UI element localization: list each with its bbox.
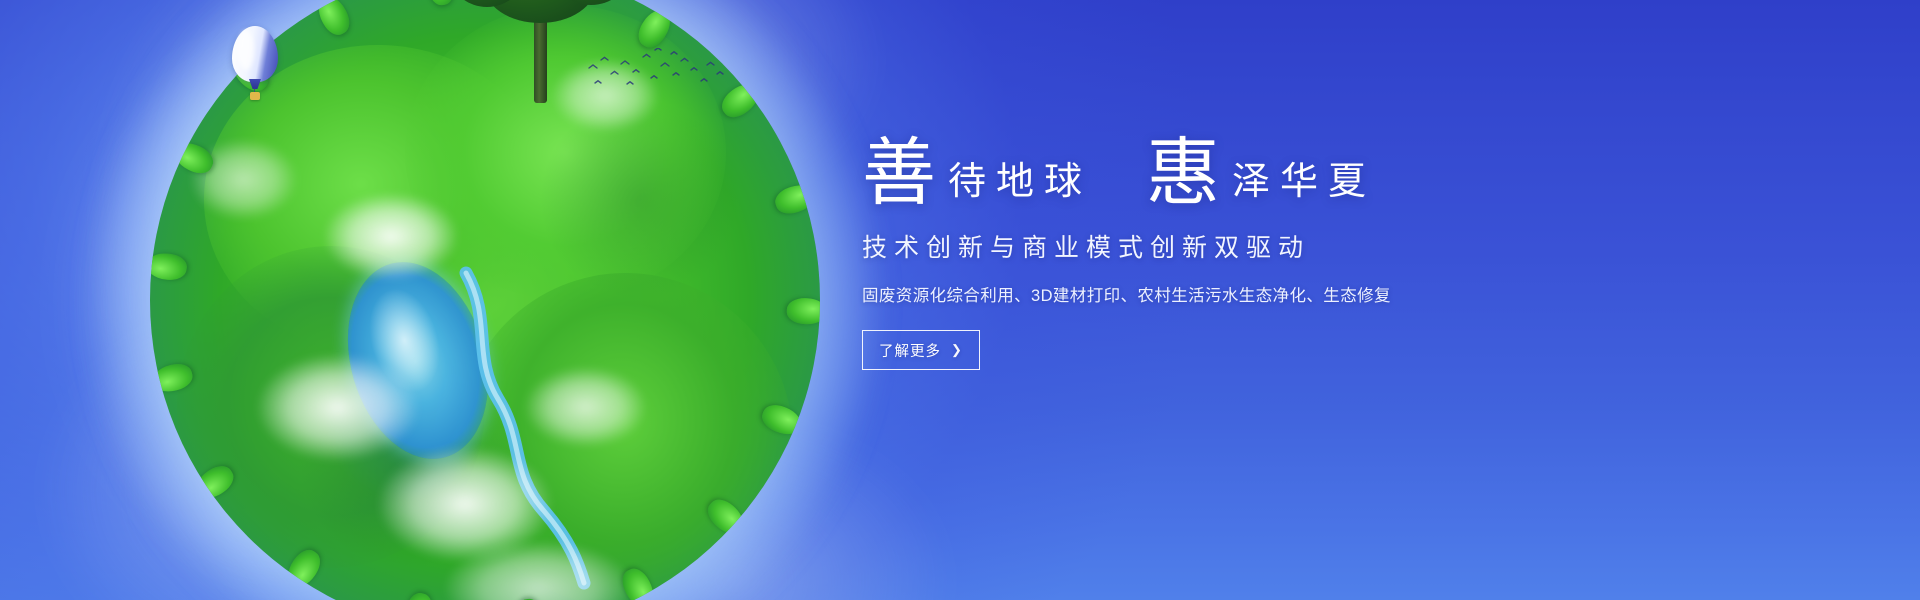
rim-tree-icon — [406, 591, 423, 600]
rim-tree-icon — [758, 412, 781, 432]
rim-tree-icon — [776, 199, 799, 218]
rim-tree-icon — [725, 101, 749, 124]
headline-part2-big: 惠 — [1146, 136, 1220, 210]
rim-tree-icon — [644, 29, 666, 53]
hero-banner: 善 待地球 惠 泽华夏 技术创新与商业模式创新双驱动 固废资源化综合利用、3D建… — [0, 0, 1920, 600]
headline-part1-small: 待地球 — [940, 162, 1092, 200]
cta-row: 了解更多 ❯ — [862, 306, 1562, 370]
hero-subtitle: 技术创新与商业模式创新双驱动 — [862, 228, 1562, 264]
cloud-patch — [257, 354, 418, 461]
hero-copy: 善 待地球 惠 泽华夏 技术创新与商业模式创新双驱动 固废资源化综合利用、3D建… — [862, 132, 1562, 370]
balloon-neck — [249, 79, 261, 89]
page-title: 善 待地球 惠 泽华夏 — [862, 132, 1562, 206]
rim-tree-icon — [334, 10, 355, 34]
terrain-patch — [539, 99, 740, 300]
balloon-basket — [250, 92, 260, 100]
rim-tree-icon — [207, 460, 231, 482]
cloud-patch — [525, 367, 646, 447]
learn-more-button[interactable]: 了解更多 ❯ — [862, 330, 980, 370]
rim-tree-icon — [702, 503, 726, 526]
rim-tree-icon — [169, 360, 192, 377]
cloud-patch — [324, 193, 458, 280]
balloon-envelope — [232, 26, 278, 82]
chevron-right-icon: ❯ — [951, 342, 963, 358]
hero-description: 固废资源化综合利用、3D建材打印、农村生活污水生态净化、生态修复 — [862, 282, 1562, 306]
rim-tree-icon — [293, 545, 315, 569]
hot-air-balloon-icon — [232, 26, 278, 108]
hero-tree-icon — [446, 0, 636, 93]
headline-part1-big: 善 — [862, 136, 936, 210]
learn-more-label: 了解更多 — [879, 340, 941, 361]
rim-tree-icon — [786, 311, 806, 325]
rim-tree-icon — [167, 254, 188, 269]
headline-part2-small: 泽华夏 — [1224, 162, 1376, 200]
